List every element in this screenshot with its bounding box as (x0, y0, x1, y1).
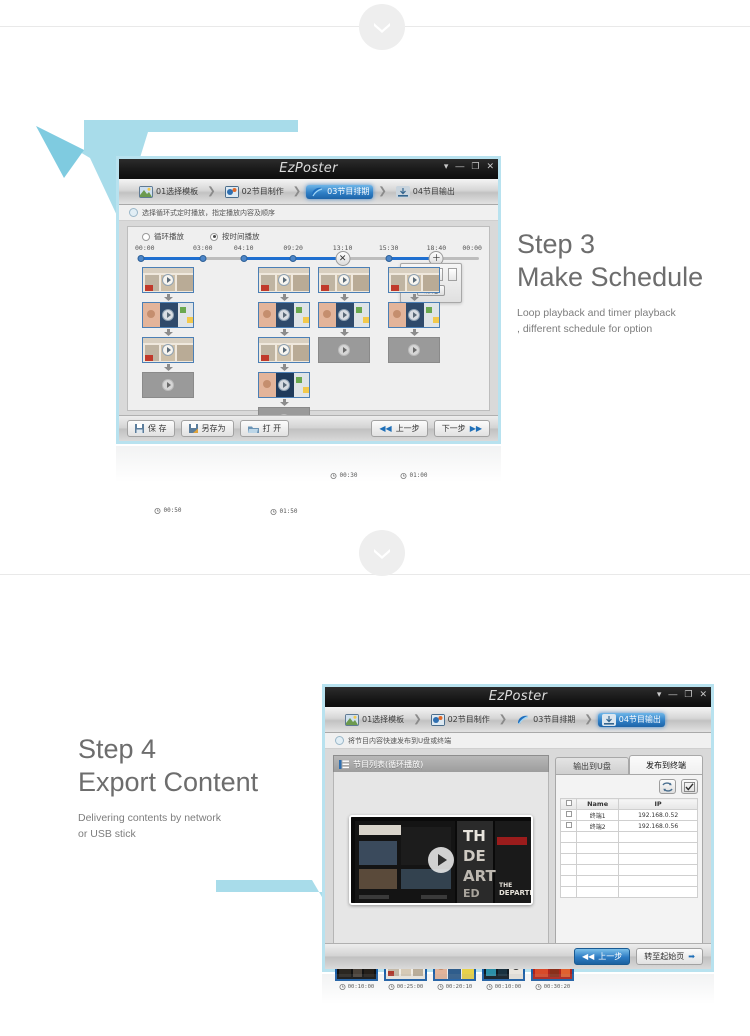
bottom-toolbar-step4[interactable]: ◀◀ 上一步 转至起始页 ➡ (325, 943, 711, 969)
export-icon (396, 186, 410, 198)
program-card[interactable] (142, 337, 194, 363)
prev-step-label: 上一步 (598, 951, 622, 962)
cell-ip (619, 887, 698, 898)
nav-separator-3: ❯ (378, 186, 386, 197)
open-button[interactable]: 打 开 (240, 420, 290, 437)
table-header-row: Name IP (561, 799, 698, 810)
home-arrow-icon: ➡ (688, 952, 695, 961)
table-row[interactable]: 终端1 192.168.0.52 (561, 810, 698, 821)
terminal-list-panel: Name IP 终端1 192.168.0.52 终端2 (555, 774, 703, 949)
prev-step-label: 上一步 (396, 423, 420, 434)
step3-desc-line2: , different schedule for option (517, 322, 747, 338)
schedule-column[interactable]: 00:50 (140, 267, 196, 398)
clock-icon (270, 508, 277, 515)
timeline-label: 04:10 (234, 244, 254, 252)
ezposter-window-step3[interactable]: EzPoster ▾ — ❐ ✕ 01选择模板 ❯ 02节目制作 ❯ (116, 156, 501, 444)
program-card[interactable] (318, 267, 370, 293)
play-badge-icon (162, 379, 174, 391)
program-card[interactable] (142, 267, 194, 293)
svg-text:DEPARTED: DEPARTED (499, 889, 533, 897)
nav-separator-2: ❯ (499, 714, 507, 725)
schedule-column[interactable]: 01:50 (256, 267, 312, 433)
play-badge-icon (278, 309, 290, 321)
row-checkbox[interactable] (566, 811, 572, 817)
save-label: 保 存 (148, 423, 167, 434)
play-badge-icon (162, 309, 174, 321)
timeline-node[interactable] (290, 255, 297, 262)
cell-ip: 192.168.0.56 (619, 821, 698, 832)
svg-text:DE: DE (463, 847, 486, 865)
column-duration: 01:50 (270, 508, 297, 515)
radio-timed-playback[interactable]: 按时间播放 (210, 231, 260, 242)
radio-timed-indicator[interactable] (210, 233, 218, 241)
program-card[interactable] (142, 302, 194, 328)
cell-name (577, 887, 619, 898)
play-badge-icon (278, 274, 290, 286)
svg-text:TH: TH (463, 827, 486, 845)
schedule-board[interactable]: 循环播放 按时间播放 00:00 03:00 04:10 09:20 13:10… (127, 226, 490, 411)
arrow-down-icon (280, 399, 289, 406)
produce-icon (431, 714, 445, 726)
play-badge-icon (338, 344, 350, 356)
close-icon[interactable]: ✕ (699, 690, 707, 699)
play-badge-icon (162, 274, 174, 286)
nav-item-schedule[interactable]: 03节目排期 (306, 185, 373, 199)
cell-ip: 192.168.0.52 (619, 810, 698, 821)
hint-text-step3: 选择循环式定时播放，指定播放内容及顺序 (142, 208, 275, 218)
play-badge-icon (408, 344, 420, 356)
timeline-segment (138, 257, 203, 260)
nav-item-select-template[interactable]: 01选择模板 (341, 713, 408, 727)
table-row[interactable] (561, 865, 698, 876)
svg-text:ART: ART (463, 867, 496, 885)
cell-ip (619, 854, 698, 865)
cell-name (577, 854, 619, 865)
cell-name (577, 865, 619, 876)
bottom-toolbar-step3[interactable]: 保 存 另存为 打 开 ◀◀ 上一步 下一步 ▶▶ (119, 415, 498, 441)
timeline-label: 03:00 (193, 244, 213, 252)
arrow-down-icon (280, 329, 289, 336)
menu-caret-icon[interactable]: ▾ (657, 690, 662, 699)
template-icon (139, 186, 153, 198)
column-duration-label: 01:50 (279, 508, 297, 515)
save-button[interactable]: 保 存 (127, 420, 175, 437)
select-all-checkbox[interactable] (566, 800, 572, 806)
arrow-down-icon (410, 294, 419, 301)
save-as-label: 另存为 (202, 423, 226, 434)
nav-separator-2: ❯ (293, 186, 301, 197)
svg-text:ED: ED (463, 887, 480, 900)
cell-ip (619, 843, 698, 854)
timeline-label: 00:00 (462, 244, 482, 252)
next-step-button[interactable]: 下一步 ▶▶ (434, 420, 490, 437)
cell-ip (619, 865, 698, 876)
nav-separator-1: ❯ (413, 714, 421, 725)
save-as-button[interactable]: 另存为 (181, 420, 234, 437)
poster-preview[interactable]: TH DE ART ED THE DEPARTED (349, 815, 533, 905)
play-badge-icon (278, 379, 290, 391)
tab-export-to-usb[interactable]: 输出到U盘 (555, 757, 629, 774)
step-nav-step3[interactable]: 01选择模板 ❯ 02节目制作 ❯ 03节目排期 ❯ 04节目输出 (119, 179, 498, 205)
cell-name: 终端1 (577, 810, 619, 821)
play-badge-icon (278, 344, 290, 356)
nav-item-schedule[interactable]: 03节目排期 (512, 713, 579, 727)
program-card[interactable] (318, 302, 370, 328)
template-icon (345, 714, 359, 726)
app-logo: EzPoster (489, 689, 547, 704)
program-card[interactable] (388, 267, 440, 293)
publish-panel: 输出到U盘 发布到终端 (555, 755, 703, 949)
menu-caret-icon[interactable]: ▾ (444, 162, 449, 171)
schedule-column[interactable]: 00:30 (316, 267, 372, 363)
cell-ip (619, 876, 698, 887)
preview-area[interactable]: TH DE ART ED THE DEPARTED (333, 772, 549, 949)
next-step-label: 下一步 (442, 423, 466, 434)
minimize-icon[interactable]: — (668, 690, 677, 699)
go-home-label: 转至起始页 (644, 951, 684, 962)
schedule-column[interactable]: 01:00 (386, 267, 442, 363)
produce-icon (225, 186, 239, 198)
arrow-down-icon (164, 329, 173, 336)
radio-loop-indicator[interactable] (142, 233, 150, 241)
info-icon (129, 208, 138, 217)
prev-arrow-icon: ◀◀ (379, 424, 391, 433)
minimize-icon[interactable]: — (455, 162, 464, 171)
nav-label-select-template: 01选择模板 (156, 186, 198, 197)
nav-item-produce[interactable]: 02节目制作 (221, 185, 288, 199)
play-badge-icon (408, 274, 420, 286)
program-card-empty[interactable] (388, 337, 440, 363)
timeline-node[interactable] (199, 255, 206, 262)
chevron-down-icon (372, 21, 392, 33)
window-controls-step4[interactable]: ▾ — ❐ ✕ (657, 690, 707, 699)
arrow-down-icon (280, 294, 289, 301)
table-row[interactable] (561, 843, 698, 854)
window-reflection-step4 (322, 974, 714, 1004)
play-button[interactable] (428, 847, 454, 873)
nav-label-produce: 02节目制作 (448, 714, 490, 725)
svg-text:THE: THE (499, 882, 512, 889)
program-card[interactable] (258, 267, 310, 293)
header-checkbox-cell[interactable] (561, 799, 577, 810)
step4-caption: Step 4 Export Content Delivering content… (78, 733, 318, 842)
play-badge-icon (162, 344, 174, 356)
timeline-label: 09:20 (283, 244, 303, 252)
terminal-table[interactable]: Name IP 终端1 192.168.0.52 终端2 (560, 798, 698, 898)
arrow-down-icon (410, 329, 419, 336)
nav-item-export[interactable]: 04节目输出 (392, 185, 459, 199)
nav-label-produce: 02节目制作 (242, 186, 284, 197)
play-badge-icon (338, 274, 350, 286)
table-row[interactable] (561, 832, 698, 843)
arrow-down-icon (164, 294, 173, 301)
nav-label-export: 04节目输出 (413, 186, 455, 197)
step4-title-line2: Export Content (78, 766, 318, 799)
folder-open-icon (248, 425, 259, 433)
column-duration-label: 00:50 (163, 507, 181, 514)
titlebar-step4[interactable]: EzPoster ▾ — ❐ ✕ (325, 687, 711, 707)
window-reflection-step3 (116, 446, 501, 482)
timeline-remove-button[interactable]: ✕ (335, 251, 350, 266)
nav-item-select-template[interactable]: 01选择模板 (135, 185, 202, 199)
arrow-down-icon (164, 364, 173, 371)
program-card[interactable] (258, 302, 310, 328)
timeline-node[interactable] (385, 255, 392, 262)
hint-bar-step3: 选择循环式定时播放，指定播放内容及顺序 (119, 205, 498, 221)
refresh-icon (662, 782, 673, 792)
schedule-columns: 00:50 (138, 267, 479, 394)
maximize-icon[interactable]: ❐ (471, 162, 479, 171)
next-arrow-icon: ▶▶ (470, 424, 482, 433)
play-badge-icon (408, 309, 420, 321)
arrow-down-icon (340, 294, 349, 301)
cell-name (577, 832, 619, 843)
nav-separator-1: ❯ (207, 186, 215, 197)
cell-name (577, 843, 619, 854)
program-list-title: 节目列表(循环播放) (353, 759, 423, 770)
step3-title-line2: Make Schedule (517, 261, 747, 294)
export-icon (602, 714, 616, 726)
program-card[interactable] (388, 302, 440, 328)
select-all-icon (684, 782, 695, 792)
save-as-icon (189, 424, 198, 433)
export-body: 节目列表(循环播放) TH DE (325, 749, 711, 949)
cell-ip (619, 832, 698, 843)
select-all-button[interactable] (681, 779, 698, 794)
go-home-button[interactable]: 转至起始页 ➡ (636, 948, 703, 965)
program-card-empty[interactable] (142, 372, 194, 398)
timeline-label: 00:00 (135, 244, 155, 252)
timeline-node[interactable] (240, 255, 247, 262)
nav-item-produce[interactable]: 02节目制作 (427, 713, 494, 727)
list-icon (339, 760, 349, 769)
header-ip: IP (619, 799, 698, 810)
tab-publish-to-terminal[interactable]: 发布到终端 (629, 755, 703, 774)
step4-title-line1: Step 4 (78, 733, 318, 766)
column-duration: 00:50 (154, 507, 181, 514)
schedule-icon (516, 714, 530, 726)
step-nav-step4[interactable]: 01选择模板 ❯ 02节目制作 ❯ 03节目排期 ❯ 04节目输出 (325, 707, 711, 733)
nav-item-export[interactable]: 04节目输出 (598, 713, 665, 727)
program-card[interactable] (258, 372, 310, 398)
info-icon (335, 736, 344, 745)
nav-label-export: 04节目输出 (619, 714, 661, 725)
nav-separator-3: ❯ (584, 714, 592, 725)
cell-name: 终端2 (577, 821, 619, 832)
clock-icon (154, 507, 161, 514)
schedule-icon (310, 186, 324, 198)
scroll-down-chevron-top[interactable] (359, 4, 405, 50)
table-row[interactable] (561, 887, 698, 898)
radio-timed-label: 按时间播放 (222, 231, 260, 242)
prev-arrow-icon: ◀◀ (582, 952, 594, 961)
playback-mode-radios[interactable]: 循环播放 按时间播放 (128, 227, 489, 242)
program-card-empty[interactable] (318, 337, 370, 363)
step4-desc-line1: Delivering contents by network (78, 811, 318, 827)
publish-tabs[interactable]: 输出到U盘 发布到终端 (555, 755, 703, 774)
step3-title-line1: Step 3 (517, 228, 747, 261)
step3-caption: Step 3 Make Schedule Loop playback and t… (517, 228, 747, 337)
row-checkbox[interactable] (566, 822, 572, 828)
nav-label-schedule: 03节目排期 (533, 714, 575, 725)
hint-text-step4: 将节目内容快速发布到U盘或终端 (348, 736, 451, 746)
open-label: 打 开 (263, 423, 282, 434)
timeline-label: 15:30 (379, 244, 399, 252)
prev-step-button[interactable]: ◀◀ 上一步 (574, 948, 630, 965)
app-logo: EzPoster (279, 161, 337, 176)
maximize-icon[interactable]: ❐ (684, 690, 692, 699)
scroll-down-chevron-middle[interactable] (359, 530, 405, 576)
ezposter-window-step4[interactable]: EzPoster ▾ — ❐ ✕ 01选择模板 ❯ 02节目制作 ❯ (322, 684, 714, 972)
close-icon[interactable]: ✕ (486, 162, 494, 171)
table-row[interactable] (561, 876, 698, 887)
table-row[interactable]: 终端2 192.168.0.56 (561, 821, 698, 832)
table-row[interactable] (561, 854, 698, 865)
cell-name (577, 876, 619, 887)
prev-step-button[interactable]: ◀◀ 上一步 (371, 420, 427, 437)
arrow-down-icon (280, 364, 289, 371)
radio-loop-playback[interactable]: 循环播放 (142, 231, 184, 242)
program-list-panel: 节目列表(循环播放) TH DE (333, 755, 549, 949)
play-badge-icon (338, 309, 350, 321)
nav-label-schedule: 03节目排期 (327, 186, 369, 197)
timeline-node[interactable] (138, 255, 145, 262)
refresh-button[interactable] (659, 779, 676, 794)
program-card[interactable] (258, 337, 310, 363)
titlebar-step3[interactable]: EzPoster ▾ — ❐ ✕ (119, 159, 498, 179)
save-icon (135, 424, 144, 433)
program-list-header: 节目列表(循环播放) (333, 755, 549, 772)
hint-bar-step4: 将节目内容快速发布到U盘或终端 (325, 733, 711, 749)
header-name: Name (577, 799, 619, 810)
window-controls-step3[interactable]: ▾ — ❐ ✕ (444, 162, 494, 171)
step4-desc-line2: or USB stick (78, 827, 318, 843)
nav-label-select-template: 01选择模板 (362, 714, 404, 725)
radio-loop-label: 循环播放 (154, 231, 184, 242)
terminal-tools[interactable] (560, 779, 698, 798)
chevron-down-icon (372, 547, 392, 559)
arrow-down-icon (340, 329, 349, 336)
step3-desc-line1: Loop playback and timer playback (517, 306, 747, 322)
